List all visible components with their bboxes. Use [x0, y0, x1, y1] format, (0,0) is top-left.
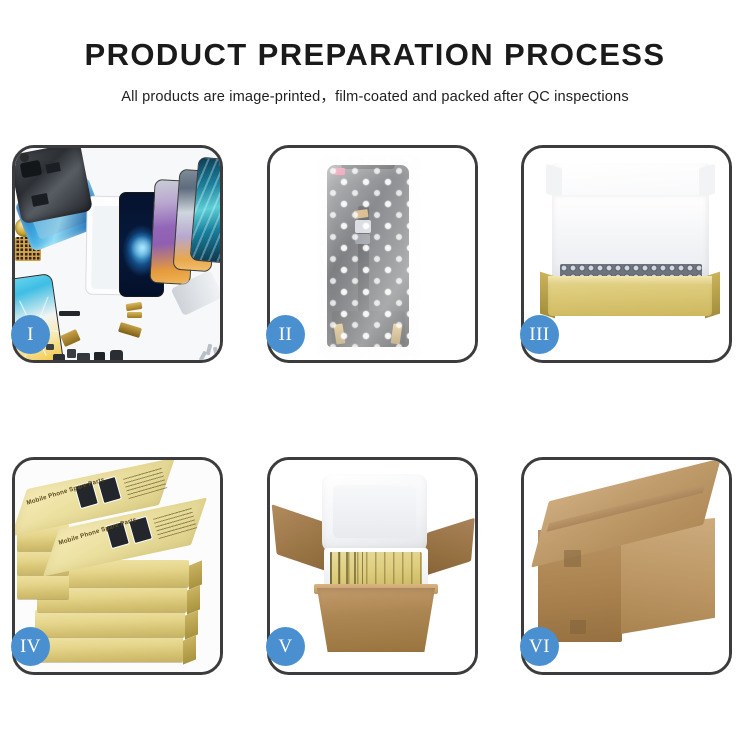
- box-side: [185, 610, 198, 639]
- step-badge-6: VI: [520, 627, 559, 666]
- yellow-inner-box-tray: [548, 276, 712, 316]
- spare-part: [110, 350, 123, 360]
- retail-box: [33, 635, 183, 662]
- box-side: [187, 585, 200, 614]
- page-subtitle: All products are image-printed，film-coat…: [0, 85, 750, 106]
- spare-part: [59, 311, 80, 316]
- process-step-panel-3: III: [521, 145, 732, 363]
- carton-body: [317, 588, 435, 652]
- spare-part: [77, 353, 90, 360]
- carton-tape-patch: [570, 620, 586, 634]
- process-step-panel-6: VI: [521, 457, 732, 675]
- spare-part: [46, 344, 54, 350]
- product-preparation-infographic: PRODUCT PREPARATION PROCESS All products…: [0, 0, 750, 750]
- spare-part: [126, 302, 143, 311]
- carton-flap-right: [423, 518, 474, 576]
- bubble-wrap-layer: [317, 155, 421, 360]
- carton-flap-left: [272, 504, 329, 572]
- process-step-grid: I II: [12, 145, 738, 681]
- spare-part: [118, 322, 142, 338]
- process-step-panel-1: I: [12, 145, 223, 363]
- step-badge-2: II: [266, 315, 305, 354]
- spare-part: [67, 349, 76, 358]
- step-badge-3: III: [520, 315, 559, 354]
- process-step-panel-4: Mobile Phone Spare Parts Mobile Phone Sp…: [12, 457, 223, 675]
- foam-sheet: [554, 195, 706, 267]
- spare-part: [94, 352, 105, 360]
- process-step-panel-5: V: [267, 457, 478, 675]
- spare-part: [53, 354, 65, 360]
- process-step-panel-2: II: [267, 145, 478, 363]
- step-badge-4: IV: [11, 627, 50, 666]
- screw-part: [213, 347, 219, 359]
- spare-part: [127, 312, 142, 318]
- box-side: [183, 635, 196, 664]
- retail-box: [35, 610, 185, 637]
- header: PRODUCT PREPARATION PROCESS All products…: [0, 0, 750, 106]
- box-side: [189, 560, 202, 589]
- spare-part: [60, 329, 80, 347]
- page-title: PRODUCT PREPARATION PROCESS: [0, 37, 750, 73]
- step-badge-1: I: [11, 315, 50, 354]
- screw-part: [199, 351, 207, 360]
- carton-tape-patch: [564, 550, 581, 567]
- step-badge-5: V: [266, 627, 305, 666]
- foam-box-lid: [322, 474, 427, 552]
